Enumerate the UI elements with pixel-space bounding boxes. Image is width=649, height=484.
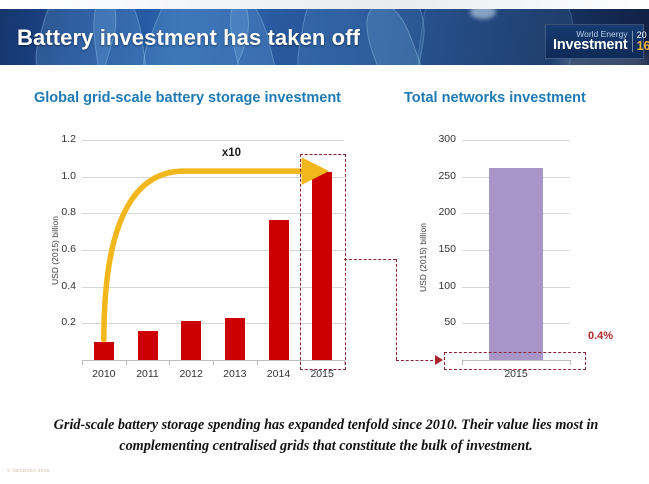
left-chart-title: Global grid-scale battery storage invest…	[34, 90, 341, 106]
y-axis-tick-label: 200	[422, 206, 456, 218]
caption-line-1: Grid-scale battery storage spending has …	[54, 417, 552, 433]
gridline	[82, 140, 344, 141]
right-chart-title: Total networks investment	[404, 90, 586, 106]
bar-2014	[269, 220, 289, 360]
right-chart-plot: 501001502002503002015	[462, 140, 570, 360]
x-axis-tick-label: 2014	[257, 368, 301, 380]
y-axis-tick-label: 100	[422, 280, 456, 292]
logo-year: 20 16	[632, 31, 649, 53]
y-axis-tick-label: 250	[422, 170, 456, 182]
bar-2012	[181, 321, 201, 360]
x-axis-tick-mark	[257, 360, 258, 365]
connector-arrowhead-icon	[435, 354, 449, 366]
y-axis-tick-label: 50	[422, 316, 456, 328]
x-axis-tick-mark	[169, 360, 170, 365]
logo-text: World Energy Investment	[546, 30, 632, 53]
bar-2011	[138, 331, 158, 360]
copyright-notice: © OECD/IEA 2016	[7, 468, 49, 473]
x-axis-tick-mark	[82, 360, 83, 365]
logo-year-bottom: 16	[637, 40, 649, 53]
highlight-box-2015-left	[300, 154, 346, 370]
x-axis-tick-mark	[213, 360, 214, 365]
highlight-box-2015-right	[444, 352, 586, 370]
logo-line-2: Investment	[553, 38, 632, 53]
x-axis-tick-label: 2011	[126, 368, 170, 380]
connector-segment-horizontal	[396, 360, 438, 361]
share-percent-label: 0.4%	[588, 330, 613, 342]
y-axis-tick-label: 0.8	[42, 206, 76, 218]
page-title: Battery investment has taken off	[17, 25, 360, 51]
y-axis-tick-label: 150	[422, 243, 456, 255]
x-axis-tick-label: 2013	[213, 368, 257, 380]
connector-segment-vertical	[396, 259, 397, 360]
bar-2013	[225, 318, 245, 360]
bar-2015	[489, 168, 543, 360]
x-axis-tick-mark	[126, 360, 127, 365]
y-axis-tick-label: 0.6	[42, 243, 76, 255]
y-axis-tick-label: 0.4	[42, 280, 76, 292]
connector-segment-horizontal	[344, 259, 396, 260]
growth-annotation-label: x10	[222, 147, 241, 159]
y-axis-tick-label: 300	[422, 133, 456, 145]
top-strip	[0, 0, 649, 9]
x-axis-tick-label: 2010	[82, 368, 126, 380]
y-axis-tick-label: 1.2	[42, 133, 76, 145]
caption: Grid-scale battery storage spending has …	[26, 415, 626, 456]
x-axis-tick-label: 2012	[169, 368, 213, 380]
charts-region: Global grid-scale battery storage invest…	[0, 70, 649, 410]
world-energy-investment-logo: World Energy Investment 20 16	[545, 24, 644, 59]
header-banner: Battery investment has taken off World E…	[0, 9, 649, 65]
y-axis-tick-label: 0.2	[42, 316, 76, 328]
gridline	[462, 140, 570, 141]
bar-2010	[94, 342, 114, 360]
y-axis-tick-label: 1.0	[42, 170, 76, 182]
